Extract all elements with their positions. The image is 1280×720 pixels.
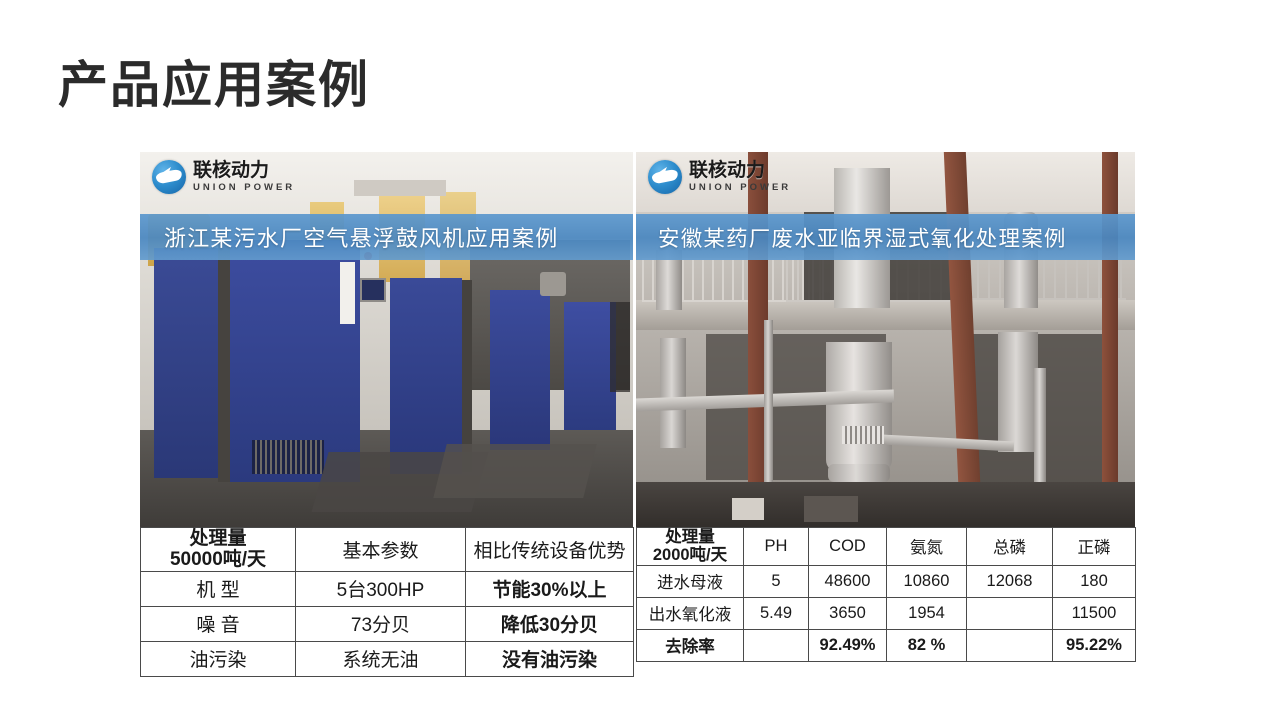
column-header-total-p: 总磷	[967, 528, 1053, 566]
case-caption-bar-left: 浙江某污水厂空气悬浮鼓风机应用案例	[140, 214, 633, 260]
capacity-line-2: 50000吨/天	[143, 549, 293, 570]
brand-name-en: UNION POWER	[193, 183, 295, 193]
capacity-line-1: 处理量	[143, 528, 293, 549]
table-row: 噪 音 73分贝 降低30分贝	[141, 606, 634, 641]
photo-motor	[540, 272, 566, 296]
table-row: 去除率 92.49% 82 % 95.22%	[637, 629, 1136, 661]
union-power-circle-swoosh-icon	[152, 160, 186, 194]
brand-text: 联核动力 UNION POWER	[689, 161, 791, 193]
column-header-ortho-p: 正磷	[1053, 528, 1136, 566]
union-power-circle-swoosh-icon	[648, 160, 682, 194]
processing-capacity-header: 处理量 2000吨/天	[637, 528, 744, 566]
photo-vessel	[826, 342, 892, 472]
photo-blower	[564, 302, 616, 430]
row-cell: 11500	[1053, 597, 1136, 629]
row-cell: 12068	[967, 565, 1053, 597]
row-cell	[967, 629, 1053, 661]
brand-text: 联核动力 UNION POWER	[193, 161, 295, 193]
table-row: 出水氧化液 5.49 3650 1954 11500	[637, 597, 1136, 629]
row-cell: 92.49%	[809, 629, 887, 661]
table-row: 机 型 5台300HP 节能30%以上	[141, 571, 634, 606]
brand-logo-left: 联核动力 UNION POWER	[152, 160, 295, 194]
photo-pipe-vertical	[1034, 368, 1046, 498]
column-header-cod: COD	[809, 528, 887, 566]
row-cell: 1954	[887, 597, 967, 629]
column-header-advantage: 相比传统设备优势	[466, 528, 634, 572]
case-caption-bar-right: 安徽某药厂废水亚临界湿式氧化处理案例	[636, 214, 1135, 260]
row-cell: 10860	[887, 565, 967, 597]
row-value: 系统无油	[296, 641, 466, 676]
photo-pipe	[660, 338, 686, 448]
photo-blower	[154, 248, 218, 478]
photo-sign	[732, 498, 764, 520]
table-row: 进水母液 5 48600 10860 12068 180	[637, 565, 1136, 597]
table-header-row: 处理量 50000吨/天 基本参数 相比传统设备优势	[141, 528, 634, 572]
photo-column	[1102, 152, 1118, 527]
brand-name-cn: 联核动力	[193, 161, 295, 180]
photo-duct	[354, 180, 446, 196]
table-row: 油污染 系统无油 没有油污染	[141, 641, 634, 676]
row-cell: 82 %	[887, 629, 967, 661]
row-advantage: 节能30%以上	[466, 571, 634, 606]
photo-floor-plate	[433, 444, 596, 498]
row-label: 机 型	[141, 571, 296, 606]
photo-vent-grille	[252, 440, 324, 474]
row-advantage: 没有油污染	[466, 641, 634, 676]
case-panel-left: 联核动力 UNION POWER 浙江某污水厂空气悬浮鼓风机应用案例 处理量 5…	[140, 152, 633, 677]
row-label: 去除率	[637, 629, 744, 661]
capacity-line-1: 处理量	[639, 528, 741, 546]
brand-name-en: UNION POWER	[689, 183, 791, 193]
capacity-line-2: 2000吨/天	[639, 546, 741, 564]
row-cell: 5	[744, 565, 809, 597]
page-title: 产品应用案例	[58, 57, 370, 115]
row-label: 噪 音	[141, 606, 296, 641]
row-value: 73分贝	[296, 606, 466, 641]
row-cell: 5.49	[744, 597, 809, 629]
slide-canvas: 产品应用案例	[0, 0, 1280, 720]
row-value: 5台300HP	[296, 571, 466, 606]
photo-pipe-vertical	[764, 320, 773, 496]
photo-figure	[610, 302, 630, 392]
photo-control-panel	[360, 278, 386, 302]
table-header-row: 处理量 2000吨/天 PH COD 氨氮 总磷 正磷	[637, 528, 1136, 566]
spec-table-right: 处理量 2000吨/天 PH COD 氨氮 总磷 正磷 进水母液 5 48600…	[636, 527, 1136, 662]
case-photo-right: 联核动力 UNION POWER 安徽某药厂废水亚临界湿式氧化处理案例	[636, 152, 1135, 527]
photo-pipe	[998, 332, 1038, 452]
photo-blower-frame	[218, 242, 230, 482]
case-panel-right: 联核动力 UNION POWER 安徽某药厂废水亚临界湿式氧化处理案例 处理量 …	[636, 152, 1135, 662]
row-advantage: 降低30分贝	[466, 606, 634, 641]
case-caption-text-right: 安徽某药厂废水亚临界湿式氧化处理案例	[636, 222, 1067, 253]
row-label: 油污染	[141, 641, 296, 676]
brand-name-cn: 联核动力	[689, 161, 791, 180]
photo-flange	[828, 464, 890, 482]
row-cell: 180	[1053, 565, 1136, 597]
row-label: 出水氧化液	[637, 597, 744, 629]
brand-logo-right: 联核动力 UNION POWER	[648, 160, 791, 194]
column-header-ammonia: 氨氮	[887, 528, 967, 566]
photo-label-strip	[340, 262, 355, 324]
photo-valve-manifold	[842, 426, 884, 444]
column-header-ph: PH	[744, 528, 809, 566]
row-cell: 3650	[809, 597, 887, 629]
photo-blower	[490, 290, 550, 450]
row-cell: 48600	[809, 565, 887, 597]
processing-capacity-header: 处理量 50000吨/天	[141, 528, 296, 572]
case-photo-left: 联核动力 UNION POWER 浙江某污水厂空气悬浮鼓风机应用案例	[140, 152, 633, 527]
column-header-basic-params: 基本参数	[296, 528, 466, 572]
row-cell: 95.22%	[1053, 629, 1136, 661]
photo-ground	[636, 482, 1135, 527]
photo-equipment-box	[804, 496, 858, 522]
spec-table-left: 处理量 50000吨/天 基本参数 相比传统设备优势 机 型 5台300HP 节…	[140, 527, 634, 677]
row-label: 进水母液	[637, 565, 744, 597]
row-cell	[744, 629, 809, 661]
row-cell	[967, 597, 1053, 629]
case-caption-text-left: 浙江某污水厂空气悬浮鼓风机应用案例	[140, 221, 558, 253]
